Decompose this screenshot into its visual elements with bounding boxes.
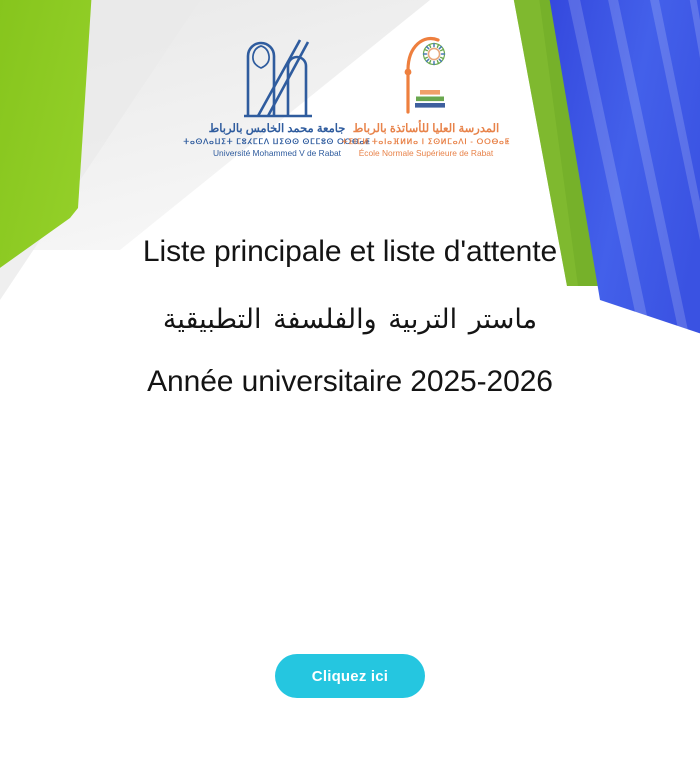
ens-logo-text: المدرسة العليا للأساتذة بالرباط ⵜⵉⵏⵎⵍ ⵜⴰ… [342, 122, 510, 158]
ens-french-name: École Normale Supérieure de Rabat [342, 148, 510, 158]
ens-tifinagh-name: ⵜⵉⵏⵎⵍ ⵜⴰⵏⴰⴼⵍⵍⴰ ⵏ ⵉⵙⵍⵎⴰⴷⵏ - ⵔⵔⴱⴰⵟ [342, 137, 510, 146]
ens-arabic-name: المدرسة العليا للأساتذة بالرباط [342, 122, 510, 136]
page-title: Liste principale et liste d'attente [0, 236, 700, 268]
announcement-page: جامعة محمد الخامس بالرباط ⵜⴰⵙⴷⴰⵡⵉⵜ ⵎⵓⵃⵎⵎ… [0, 0, 700, 757]
ens-logo: المدرسة العليا للأساتذة بالرباط ⵜⵉⵏⵎⵍ ⵜⴰ… [356, 26, 496, 158]
books-stack-icon [415, 90, 445, 108]
academic-year: Année universitaire 2025-2026 [0, 366, 700, 398]
gear-circle [424, 44, 445, 65]
click-here-button[interactable]: Cliquez ici [275, 654, 425, 698]
cta-container: Cliquez ici [0, 654, 700, 698]
arc-gear-books-emblem-icon [394, 26, 458, 118]
arches-emblem-icon [236, 26, 318, 118]
logo-row: جامعة محمد الخامس بالرباط ⵜⴰⵙⴷⴰⵡⵉⵜ ⵎⵓⵃⵎⵎ… [0, 26, 700, 158]
um5-logo: جامعة محمد الخامس بالرباط ⵜⴰⵙⴷⴰⵡⵉⵜ ⵎⵓⵃⵎⵎ… [204, 26, 350, 158]
heading-block: Liste principale et liste d'attente ماست… [0, 236, 700, 398]
program-title-arabic: ماستر التربية والفلسفة التطبيقية [0, 306, 700, 335]
